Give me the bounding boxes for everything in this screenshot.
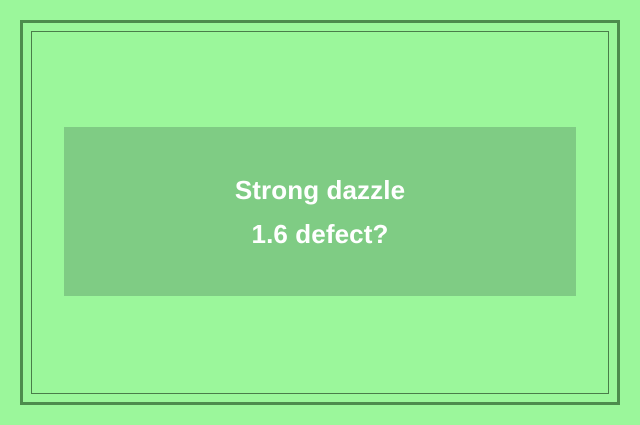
poster-canvas: Strong dazzle 1.6 defect? xyxy=(0,0,640,425)
headline-line-1: Strong dazzle xyxy=(235,168,405,212)
content-panel: Strong dazzle 1.6 defect? xyxy=(64,127,576,296)
headline-line-2: 1.6 defect? xyxy=(252,212,389,256)
